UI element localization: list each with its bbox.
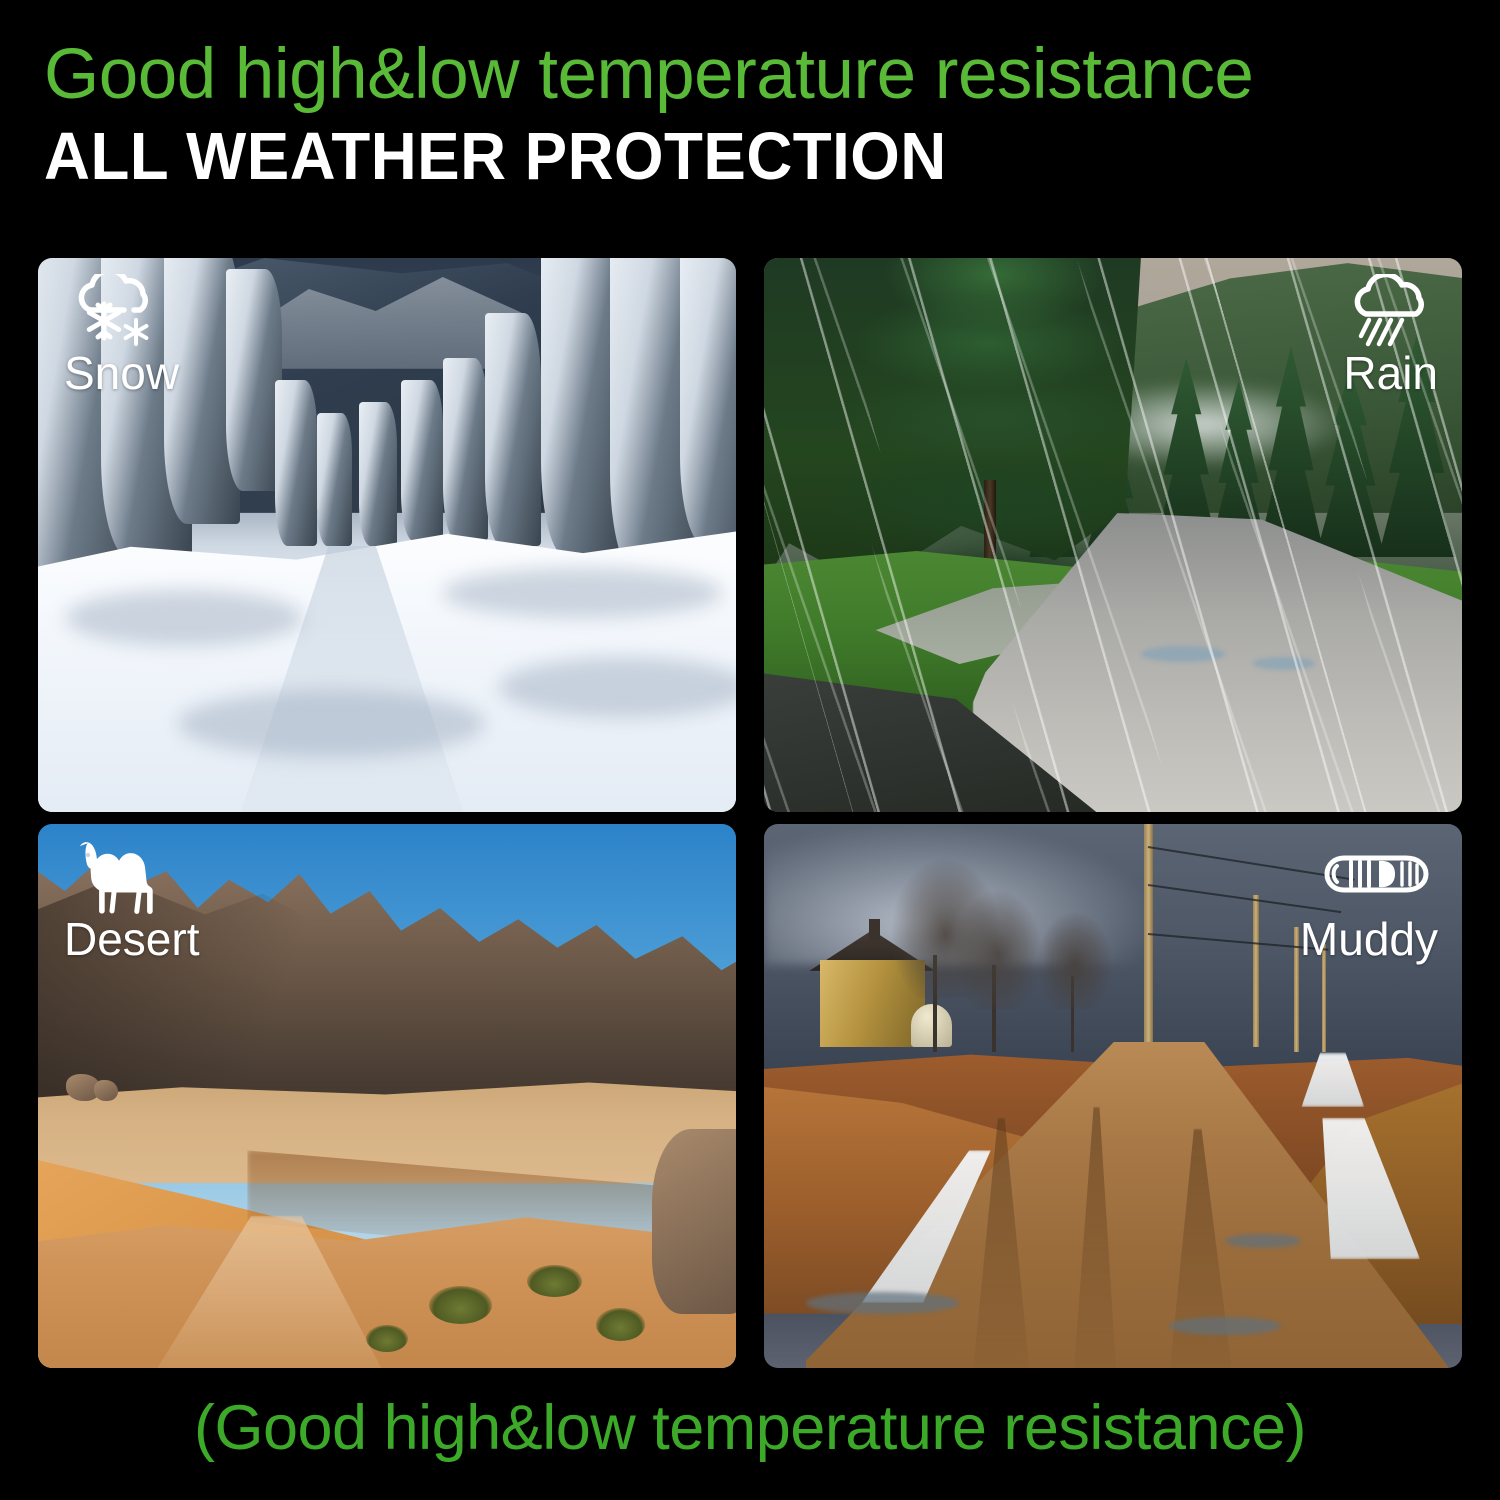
panel-muddy[interactable]: Muddy	[764, 824, 1462, 1368]
page-title: ALL WEATHER PROTECTION	[44, 119, 1393, 194]
muddy-scene	[764, 824, 1462, 1368]
rain-scene	[764, 258, 1462, 812]
rain-overlay	[764, 258, 1462, 812]
panel-desert[interactable]: Desert	[38, 824, 736, 1368]
header-block: Good high&low temperature resistance ALL…	[44, 38, 1464, 194]
panel-snow[interactable]: Snow	[38, 258, 736, 812]
weather-panel-grid: Snow	[38, 258, 1462, 1368]
panel-rain[interactable]: Rain	[764, 258, 1462, 812]
green-headline: Good high&low temperature resistance	[44, 38, 1464, 113]
snow-scene	[38, 258, 736, 812]
footer-caption: (Good high&low temperature resistance)	[0, 1392, 1500, 1464]
all-weather-protection-infographic: Good high&low temperature resistance ALL…	[0, 0, 1500, 1500]
desert-scene	[38, 824, 736, 1368]
